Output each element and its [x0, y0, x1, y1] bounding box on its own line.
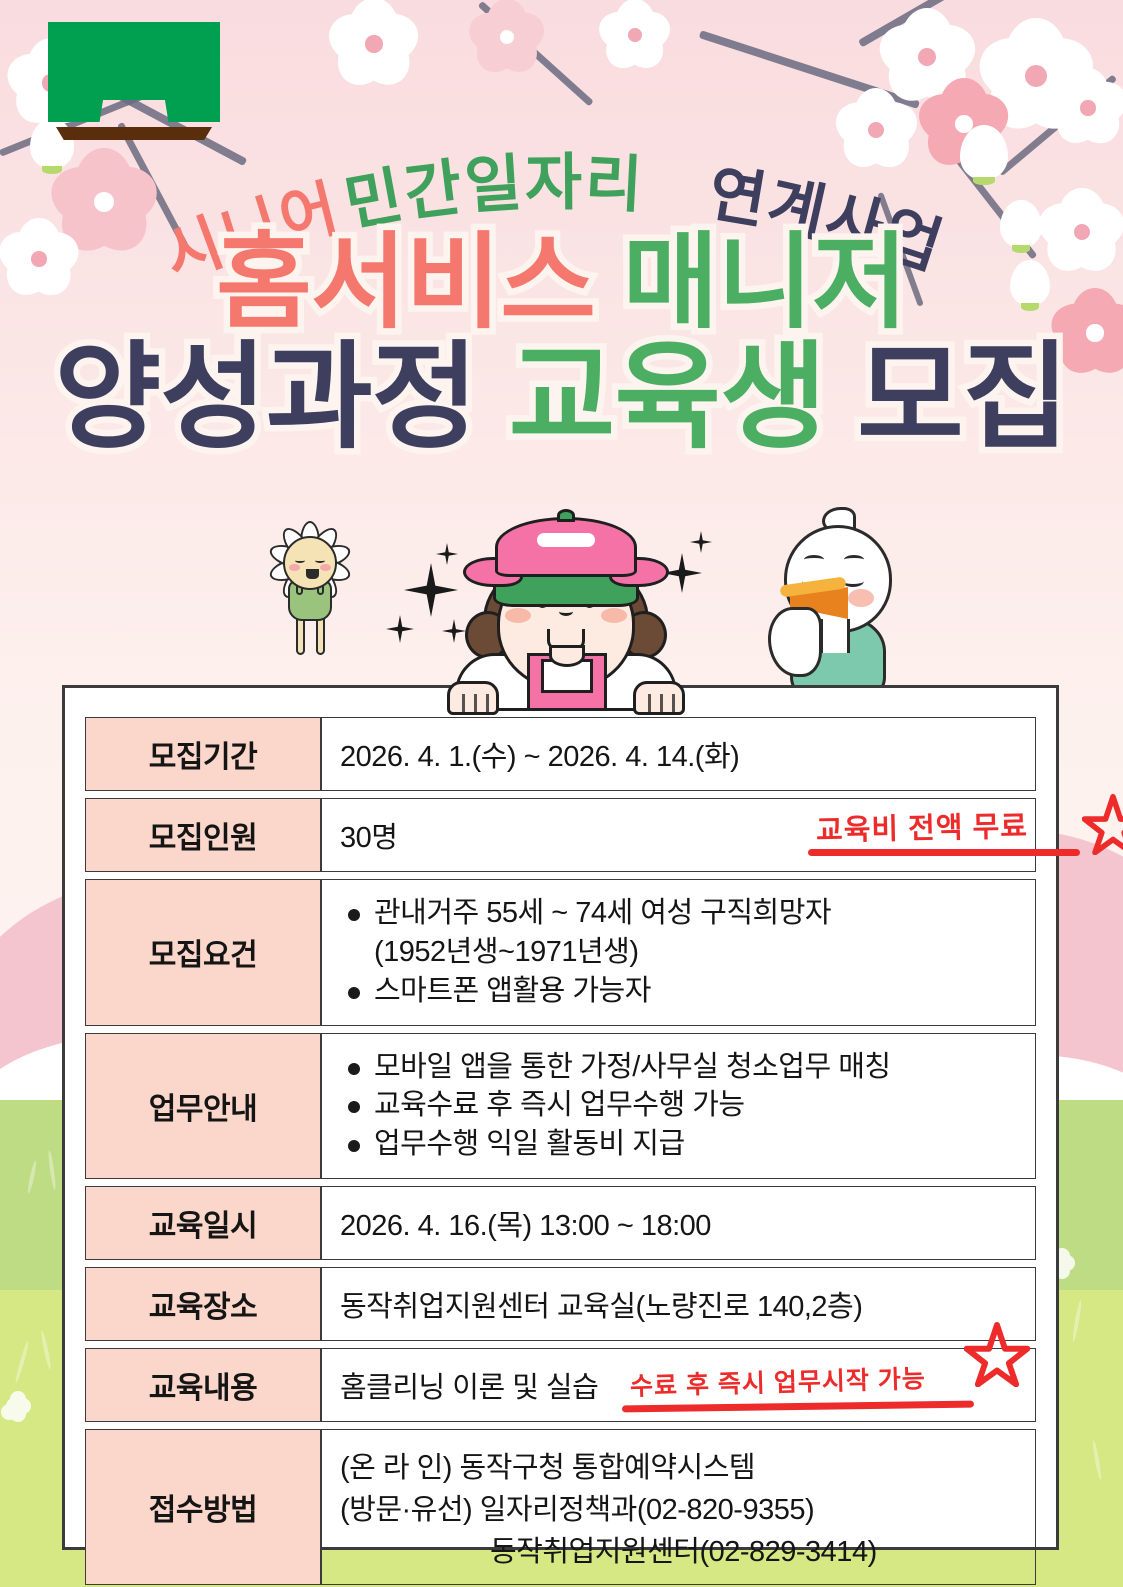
row-value: 관내거주 55세 ~ 74세 여성 구직희망자 (1952년생~1971년생) …	[321, 879, 1036, 1026]
flower-face	[283, 536, 337, 590]
bird-mascot	[772, 503, 917, 703]
row-value: 2026. 4. 16.(목) 13:00 ~ 18:00	[321, 1186, 1036, 1260]
star-icon	[964, 1321, 1030, 1387]
flower-mascot	[264, 517, 356, 657]
annotation-underline	[808, 849, 1080, 856]
list-item: 업무수행 익일 활동비 지급	[340, 1125, 1017, 1164]
cherry-blossom	[600, 0, 670, 70]
title-line-1: 홈서비스 매니저	[0, 230, 1123, 336]
title-line-2: 양성과정 교육생 모집	[0, 338, 1123, 456]
row-label: 교육장소	[85, 1267, 321, 1341]
row-value: 동작취업지원센터 교육실(노량진로 140,2층)	[321, 1267, 1036, 1341]
title-home-service: 홈서비스	[216, 225, 595, 341]
application-phone: (방문·유선) 일자리정책과(02-820-9355)	[340, 1486, 1017, 1528]
list-item: 교육수료 후 즉시 업무수행 가능	[340, 1086, 1017, 1125]
list-item: 모바일 앱을 통한 가정/사무실 청소업무 매칭	[340, 1048, 1017, 1087]
lady-cap-label	[537, 533, 595, 547]
cherry-blossom	[330, 0, 418, 88]
application-online: (온 라 인) 동작구청 통합예약시스템	[340, 1444, 1017, 1486]
bird-neck	[820, 619, 850, 653]
lady-hand-right	[633, 681, 685, 715]
star-icon	[1082, 793, 1123, 855]
lady-cap-pink	[495, 517, 637, 577]
row-label: 교육일시	[85, 1186, 321, 1260]
title-trainees: 교육생	[509, 332, 826, 462]
poster-root: 시니어 민간일자리 연계사업 홈서비스 매니저 양성과정 교육생 모집	[0, 0, 1123, 1587]
table-row-job-description: 업무안내 모바일 앱을 통한 가정/사무실 청소업무 매칭 교육수료 후 즉시 …	[85, 1033, 1036, 1180]
district-logo	[48, 22, 220, 140]
flower-leg	[296, 617, 305, 655]
row-label: 모집기간	[85, 717, 321, 791]
logo-green-shape	[48, 22, 220, 122]
poster-title: 홈서비스 매니저 양성과정 교육생 모집	[0, 230, 1123, 456]
row-value: 30명 교육비 전액 무료	[321, 798, 1036, 872]
cleaning-manager-character	[441, 503, 691, 708]
table-row-training-content: 교육내용 홈클리닝 이론 및 실습 수료 후 즉시 업무시작 가능	[85, 1348, 1036, 1422]
row-label: 모집요건	[85, 879, 321, 1026]
cherry-blossom	[836, 90, 916, 170]
row-value-text: 홈클리닝 이론 및 실습	[340, 1372, 598, 1404]
row-value: 2026. 4. 1.(수) ~ 2026. 4. 14.(화)	[321, 717, 1036, 791]
list-item: 관내거주 55세 ~ 74세 여성 구직희망자	[340, 894, 1017, 933]
list-item: (1952년생~1971년생)	[340, 933, 1017, 972]
table-row-recruitment-period: 모집기간 2026. 4. 1.(수) ~ 2026. 4. 14.(화)	[85, 717, 1036, 791]
title-training-course: 양성과정	[55, 332, 478, 462]
row-value: 모바일 앱을 통한 가정/사무실 청소업무 매칭 교육수료 후 즉시 업무수행 …	[321, 1033, 1036, 1180]
immediate-start-annotation: 수료 후 즉시 업무시작 가능	[630, 1359, 927, 1403]
logo-brown-bar	[56, 127, 212, 140]
bird-wing	[768, 607, 822, 677]
lady-collar	[549, 645, 585, 667]
bird-cheek	[848, 589, 874, 607]
annotation-underline	[622, 1401, 974, 1413]
row-label: 업무안내	[85, 1033, 321, 1180]
row-label: 교육내용	[85, 1348, 321, 1422]
cherry-blossom	[1050, 70, 1123, 146]
row-value-text: 30명	[340, 822, 397, 854]
table-row-training-datetime: 교육일시 2026. 4. 16.(목) 13:00 ~ 18:00	[85, 1186, 1036, 1260]
bird-brow-left	[804, 555, 824, 564]
table-row-requirements: 모집요건 관내거주 55세 ~ 74세 여성 구직희망자 (1952년생~197…	[85, 879, 1036, 1026]
blossom-bud	[960, 125, 1008, 180]
sparkle-icon	[690, 531, 712, 553]
job-description-list: 모바일 앱을 통한 가정/사무실 청소업무 매칭 교육수료 후 즉시 업무수행 …	[340, 1048, 1017, 1165]
sparkle-icon	[386, 615, 414, 643]
requirement-list: 관내거주 55세 ~ 74세 여성 구직희망자 (1952년생~1971년생) …	[340, 894, 1017, 1011]
table-row-application-method: 접수방법 (온 라 인) 동작구청 통합예약시스템 (방문·유선) 일자리정책과…	[85, 1429, 1036, 1585]
flower-leg	[316, 617, 325, 655]
lady-cheek-right	[601, 608, 627, 623]
list-item: 스마트폰 앱활용 가능자	[340, 972, 1017, 1011]
info-panel: 모집기간 2026. 4. 1.(수) ~ 2026. 4. 14.(화) 모집…	[62, 685, 1059, 1550]
row-label: 모집인원	[85, 798, 321, 872]
lady-cheek-left	[505, 608, 531, 623]
cherry-blossom	[470, 0, 544, 74]
table-row-headcount: 모집인원 30명 교육비 전액 무료	[85, 798, 1036, 872]
title-recruit: 모집	[857, 332, 1068, 462]
free-tuition-annotation: 교육비 전액 무료	[816, 803, 1029, 849]
row-value: (온 라 인) 동작구청 통합예약시스템 (방문·유선) 일자리정책과(02-8…	[321, 1429, 1036, 1585]
application-center-phone: 동작취업지원센터(02-829-3414)	[340, 1528, 1017, 1570]
bird-brow-right	[844, 555, 864, 564]
lady-cap-button	[557, 509, 575, 522]
lady-hand-left	[447, 681, 499, 715]
row-value: 홈클리닝 이론 및 실습 수료 후 즉시 업무시작 가능	[321, 1348, 1036, 1422]
character-row	[0, 495, 1123, 705]
tiny-flower	[6, 1398, 22, 1414]
row-label: 접수방법	[85, 1429, 321, 1585]
title-manager: 매니저	[623, 225, 907, 341]
info-table: 모집기간 2026. 4. 1.(수) ~ 2026. 4. 14.(화) 모집…	[85, 710, 1036, 1587]
table-row-training-location: 교육장소 동작취업지원센터 교육실(노량진로 140,2층)	[85, 1267, 1036, 1341]
lady-nose	[559, 607, 573, 616]
